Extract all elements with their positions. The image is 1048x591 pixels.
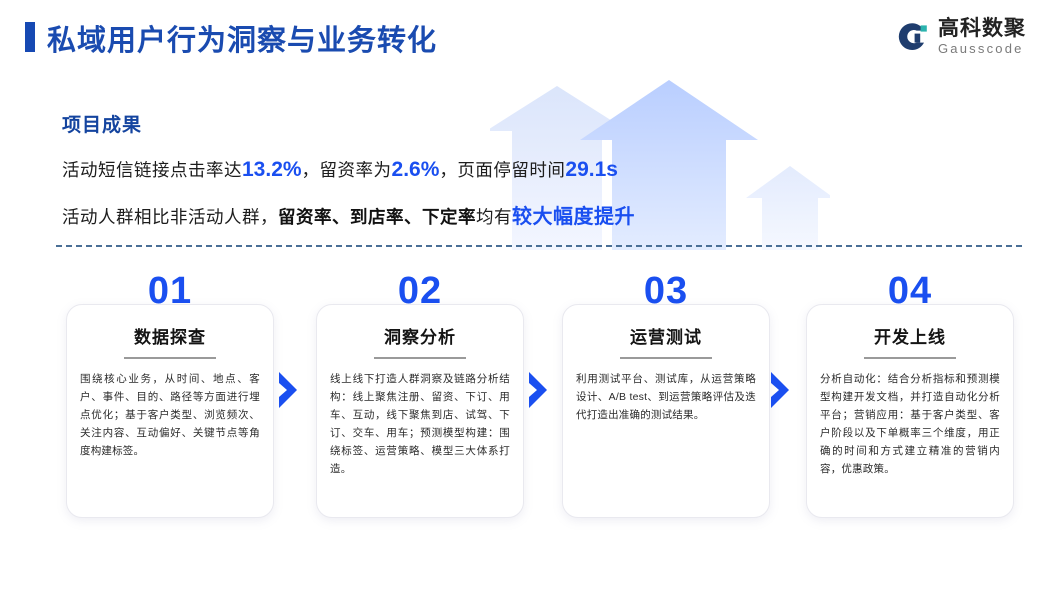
logo-name-en: Gausscode — [938, 42, 1026, 55]
logo-text-block: 高科数聚 Gausscode — [938, 18, 1026, 55]
step-body-04: 分析自动化：结合分析指标和预测模型构建开发文档，并打造自动化分析平台；营销应用：… — [820, 370, 1000, 478]
step-card-body-01[interactable]: 数据探查 围绕核心业务，从时间、地点、客户、事件、目的、路径等方面进行埋点优化；… — [66, 304, 274, 518]
chevron-right-icon-1 — [276, 370, 300, 410]
brand-logo: 高科数聚 Gausscode — [895, 18, 1026, 55]
step-rule-03 — [620, 357, 712, 359]
results-line-1: 活动短信链接点击率达13.2%，留资率为2.6%，页面停留时间29.1s — [62, 157, 762, 182]
step-rule-01 — [124, 357, 216, 359]
step-rule-02 — [374, 357, 466, 359]
stat-dwell-time: 29.1s — [565, 158, 618, 181]
step-title-04: 开发上线 — [820, 323, 1000, 348]
step-card-01[interactable]: 01 数据探查 围绕核心业务，从时间、地点、客户、事件、目的、路径等方面进行埋点… — [66, 272, 274, 520]
logo-name-cn: 高科数聚 — [938, 18, 1026, 39]
result-line2-highlight: 较大幅度提升 — [512, 206, 635, 228]
step-number-04: 04 — [806, 272, 1014, 310]
chevron-right-icon-2 — [526, 370, 550, 410]
step-card-body-02[interactable]: 洞察分析 线上线下打造人群洞察及链路分析结构：线上聚焦注册、留资、下订、用车、互… — [316, 304, 524, 518]
project-results-section: 项目成果 活动短信链接点击率达13.2%，留资率为2.6%，页面停留时间29.1… — [62, 110, 762, 247]
step-card-body-03[interactable]: 运营测试 利用测试平台、测试库，从运营策略设计、A/B test、到运营策略评估… — [562, 304, 770, 518]
page-title: 私域用户行为洞察与业务转化 — [47, 17, 437, 59]
result-line1-part2: ，留资率为 — [302, 160, 392, 180]
section-divider — [56, 245, 1022, 247]
step-body-02: 线上线下打造人群洞察及链路分析结构：线上聚焦注册、留资、下订、用车、互动，线下聚… — [330, 370, 510, 478]
step-title-02: 洞察分析 — [330, 323, 510, 348]
step-title-03: 运营测试 — [576, 323, 756, 348]
step-body-03: 利用测试平台、测试库，从运营策略设计、A/B test、到运营策略评估及迭代打造… — [576, 370, 756, 424]
step-number-03: 03 — [562, 272, 770, 310]
stat-click-rate: 13.2% — [242, 158, 302, 181]
gausscode-logo-icon — [895, 20, 929, 54]
title-accent-bar — [25, 22, 35, 52]
step-card-02[interactable]: 02 洞察分析 线上线下打造人群洞察及链路分析结构：线上聚焦注册、留资、下订、用… — [316, 272, 524, 520]
result-line2-emphasis: 留资率、到店率、下定率 — [278, 207, 476, 227]
step-card-04[interactable]: 04 开发上线 分析自动化：结合分析指标和预测模型构建开发文档，并打造自动化分析… — [806, 272, 1014, 520]
page-header: 私域用户行为洞察与业务转化 高科数聚 Gausscode — [0, 0, 1048, 80]
stat-lead-rate: 2.6% — [392, 158, 440, 181]
result-line1-part3: ，页面停留时间 — [439, 160, 565, 180]
process-steps-group: 01 数据探查 围绕核心业务，从时间、地点、客户、事件、目的、路径等方面进行埋点… — [0, 272, 1048, 532]
result-line1-part1: 活动短信链接点击率达 — [62, 160, 242, 180]
results-heading: 项目成果 — [62, 110, 762, 137]
result-line2-part2: 均有 — [476, 207, 512, 227]
step-number-02: 02 — [316, 272, 524, 310]
step-card-body-04[interactable]: 开发上线 分析自动化：结合分析指标和预测模型构建开发文档，并打造自动化分析平台；… — [806, 304, 1014, 518]
results-line-2: 活动人群相比非活动人群，留资率、到店率、下定率均有较大幅度提升 — [62, 200, 762, 229]
step-number-01: 01 — [66, 272, 274, 310]
step-rule-04 — [864, 357, 956, 359]
step-body-01: 围绕核心业务，从时间、地点、客户、事件、目的、路径等方面进行埋点优化；基于客户类… — [80, 370, 260, 460]
step-card-03[interactable]: 03 运营测试 利用测试平台、测试库，从运营策略设计、A/B test、到运营策… — [562, 272, 770, 520]
step-title-01: 数据探查 — [80, 323, 260, 348]
result-line2-part1: 活动人群相比非活动人群， — [62, 207, 278, 227]
chevron-right-icon-3 — [768, 370, 792, 410]
